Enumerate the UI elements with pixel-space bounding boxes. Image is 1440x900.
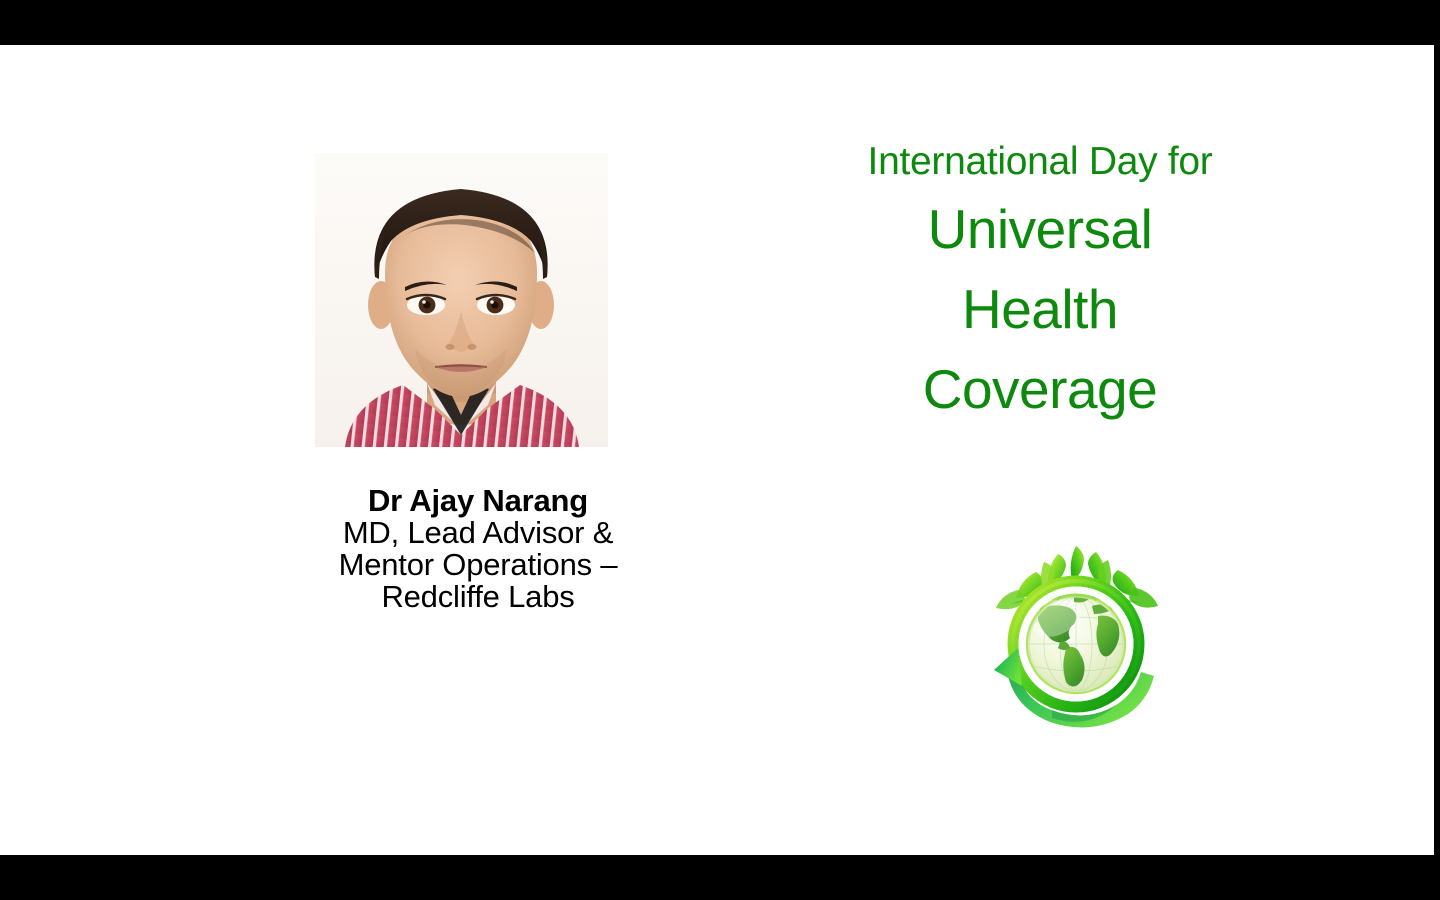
letterbox-bar-bottom bbox=[0, 855, 1440, 900]
speaker-photo-image bbox=[315, 153, 608, 447]
speaker-photo bbox=[315, 153, 608, 447]
title-line-universal: Universal bbox=[760, 189, 1320, 269]
speaker-name: Dr Ajay Narang bbox=[300, 485, 656, 517]
presentation-slide: Dr Ajay Narang MD, Lead Advisor & Mentor… bbox=[0, 45, 1434, 855]
letterbox-bar-top bbox=[0, 0, 1440, 45]
slide-title: International Day for Universal Health C… bbox=[760, 135, 1320, 429]
title-line-international-day-for: International Day for bbox=[760, 135, 1320, 189]
slide-viewport: Dr Ajay Narang MD, Lead Advisor & Mentor… bbox=[0, 0, 1440, 900]
speaker-credential-line-1: MD, Lead Advisor & bbox=[300, 517, 656, 549]
green-globe-eco-logo bbox=[988, 532, 1164, 738]
title-line-coverage: Coverage bbox=[760, 349, 1320, 429]
speaker-caption: Dr Ajay Narang MD, Lead Advisor & Mentor… bbox=[300, 485, 656, 613]
speaker-credential-line-3: Redcliffe Labs bbox=[300, 581, 656, 613]
speaker-credential-line-2: Mentor Operations – bbox=[300, 549, 656, 581]
title-line-health: Health bbox=[760, 269, 1320, 349]
